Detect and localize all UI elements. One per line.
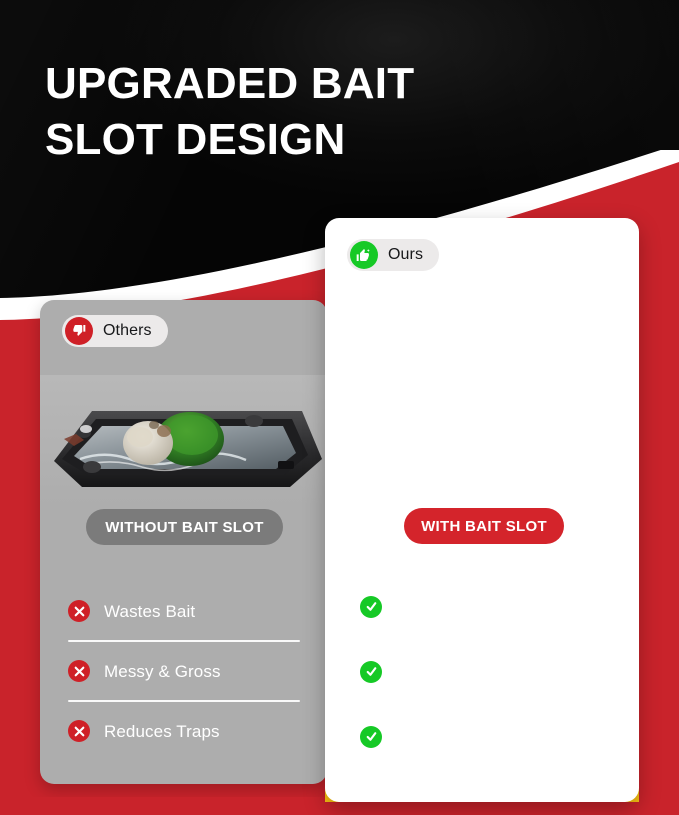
feature-list-ours: Fooding-saving & Customizable Keeps Trap… bbox=[360, 575, 612, 768]
caption-with-bait-slot: WITH BAIT SLOT bbox=[404, 508, 564, 544]
badge-ours: Ours bbox=[347, 239, 439, 271]
list-item-label: Fooding-saving & Customizable bbox=[396, 586, 612, 628]
x-circle-icon bbox=[68, 720, 90, 742]
badge-ours-label: Ours bbox=[388, 247, 423, 263]
thumbs-up-icon bbox=[350, 241, 378, 269]
list-item-label: Messy & Gross bbox=[104, 661, 221, 682]
list-item: Messy & Gross bbox=[68, 642, 300, 700]
glue-trap-messy-illustration bbox=[40, 375, 327, 505]
check-circle-icon bbox=[360, 726, 382, 748]
list-item-label: Wastes Bait bbox=[104, 601, 195, 622]
x-circle-icon bbox=[68, 600, 90, 622]
list-item: Improved Efficiency bbox=[360, 705, 612, 768]
list-item-label: Keeps Traps Clean bbox=[396, 661, 542, 682]
check-circle-icon bbox=[360, 661, 382, 683]
product-feature-poster: UPGRADED BAIT SLOT DESIGN bbox=[0, 0, 679, 815]
list-item: Fooding-saving & Customizable bbox=[360, 575, 612, 638]
list-item: Keeps Traps Clean bbox=[360, 640, 612, 703]
badge-others-label: Others bbox=[103, 323, 152, 339]
list-item: Reduces Traps bbox=[68, 702, 300, 760]
list-item-label: Reduces Traps bbox=[104, 721, 220, 742]
others-product-photo bbox=[40, 375, 327, 505]
thumbs-down-icon bbox=[65, 317, 93, 345]
list-item-label: Improved Efficiency bbox=[396, 726, 546, 747]
x-circle-icon bbox=[68, 660, 90, 682]
feature-list-others: Wastes Bait Messy & Gross Reduces Traps bbox=[68, 582, 300, 760]
badge-others: Others bbox=[62, 315, 168, 347]
list-item: Wastes Bait bbox=[68, 582, 300, 640]
caption-without-bait-slot: WITHOUT BAIT SLOT bbox=[86, 509, 283, 545]
check-circle-icon bbox=[360, 596, 382, 618]
